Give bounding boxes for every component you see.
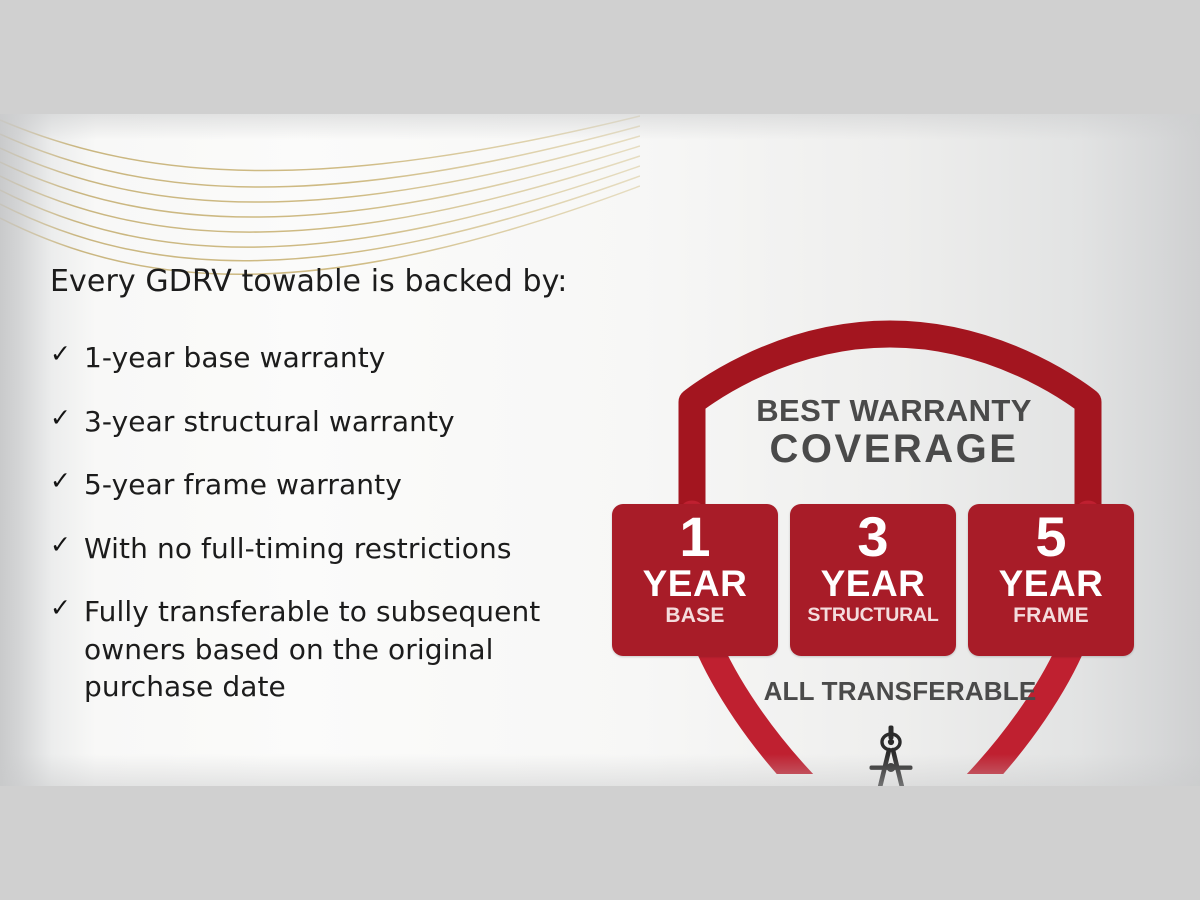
warranty-term-boxes: 1 YEAR BASE 3 YEAR STRUCTURAL 5 YEAR FRA…	[612, 504, 1172, 656]
list-item-label: 3-year structural warranty	[84, 403, 455, 441]
list-item: ✓ 1-year base warranty	[50, 339, 650, 377]
list-item-label: Fully transferable to subsequent owners …	[84, 593, 629, 706]
warranty-box-number: 1	[679, 510, 710, 565]
list-item: ✓ 5-year frame warranty	[50, 466, 650, 504]
check-icon: ✓	[50, 530, 84, 561]
list-item: ✓ With no full-timing restrictions	[50, 530, 650, 568]
warranty-box-base: 1 YEAR BASE	[612, 504, 778, 656]
check-icon: ✓	[50, 466, 84, 497]
warranty-box-structural: 3 YEAR STRUCTURAL	[790, 504, 956, 656]
slide-canvas: Every GDRV towable is backed by: ✓ 1-yea…	[0, 0, 1200, 900]
page-title: Every GDRV towable is backed by:	[50, 264, 650, 299]
list-item: ✓ 3-year structural warranty	[50, 403, 650, 441]
list-item: ✓ Fully transferable to subsequent owner…	[50, 593, 650, 706]
warranty-box-unit: YEAR	[821, 565, 926, 602]
warranty-box-number: 5	[1035, 510, 1066, 565]
list-item-label: 5-year frame warranty	[84, 466, 402, 504]
check-icon: ✓	[50, 403, 84, 434]
shield-title-line-2: COVERAGE	[704, 429, 1084, 470]
slide-content-area: Every GDRV towable is backed by: ✓ 1-yea…	[0, 114, 1200, 786]
list-item-label: With no full-timing restrictions	[84, 530, 512, 568]
list-item-label: 1-year base warranty	[84, 339, 385, 377]
shield-title-line-1: BEST WARRANTY	[714, 395, 1074, 427]
shield-footer-label: ALL TRANSFERABLE	[700, 676, 1100, 707]
warranty-box-unit: YEAR	[999, 565, 1104, 602]
warranty-box-kind: STRUCTURAL	[807, 602, 938, 628]
warranty-box-number: 3	[857, 510, 888, 565]
warranty-box-unit: YEAR	[643, 565, 748, 602]
check-icon: ✓	[50, 339, 84, 370]
warranty-box-kind: FRAME	[1013, 602, 1089, 630]
warranty-text-column: Every GDRV towable is backed by: ✓ 1-yea…	[50, 264, 650, 732]
gold-swoosh-decoration	[0, 114, 640, 289]
warranty-box-kind: BASE	[665, 602, 724, 630]
drafting-compass-icon	[848, 724, 934, 786]
warranty-box-frame: 5 YEAR FRAME	[968, 504, 1134, 656]
check-icon: ✓	[50, 593, 84, 624]
